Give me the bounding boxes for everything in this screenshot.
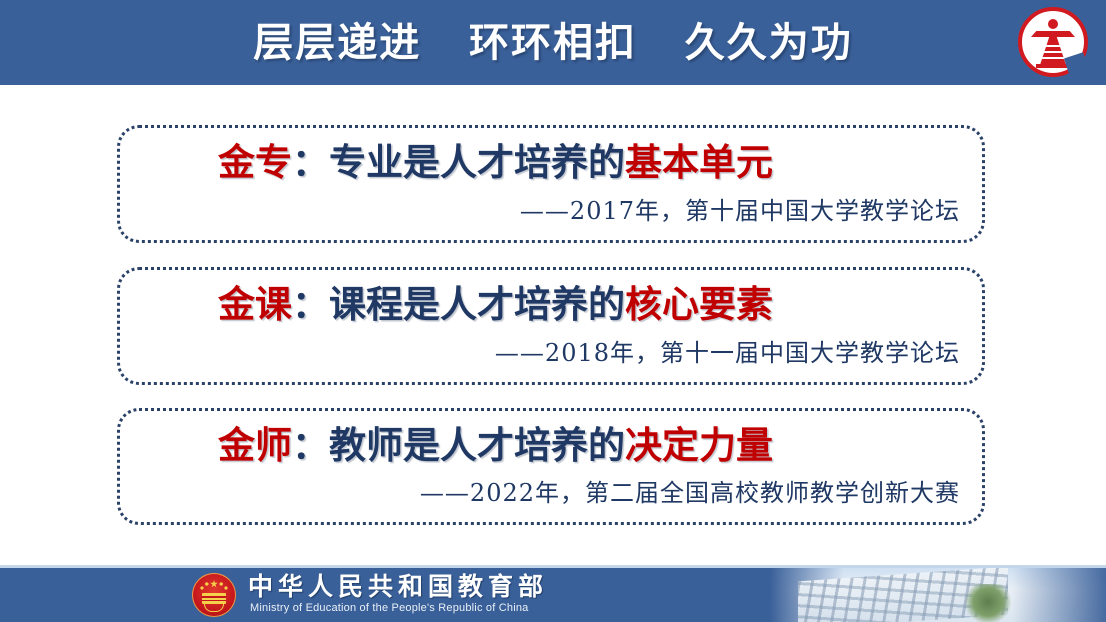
- emblem-rung: [1040, 45, 1066, 47]
- statement-emphasis: 核心要素: [625, 283, 773, 326]
- key-term: 金课: [218, 283, 292, 326]
- separator: ：: [292, 424, 329, 467]
- statement-emphasis: 决定力量: [625, 424, 773, 467]
- ministry-building-photo: [770, 568, 1106, 622]
- separator: ：: [292, 283, 329, 326]
- statement-lead: 课程是人才培养的: [329, 283, 625, 326]
- card-attribution: ——2017年，第十届中国大学教学论坛: [520, 191, 960, 226]
- key-term: 金专: [218, 141, 292, 184]
- emblem-tiananmen: [202, 593, 226, 604]
- national-emblem-icon: [192, 573, 236, 617]
- separator: ：: [292, 141, 329, 184]
- emblem-rung: [1040, 57, 1066, 59]
- emblem-small-stars: [199, 582, 229, 592]
- statement-lead: 教师是人才培养的: [329, 424, 625, 467]
- slide-footer: [0, 568, 1106, 622]
- ministry-name-en: Ministry of Education of the People's Re…: [250, 603, 528, 614]
- card-attribution: ——2022年，第二届全国高校教师教学创新大赛: [420, 473, 960, 508]
- statement-card: 金师：教师是人才培养的决定力量 ——2022年，第二届全国高校教师教学创新大赛: [117, 408, 985, 525]
- statement-card: 金专：专业是人才培养的基本单元 ——2017年，第十届中国大学教学论坛: [117, 125, 985, 243]
- card-headline: 金专：专业是人才培养的基本单元: [218, 142, 773, 185]
- emblem-head: [1048, 19, 1058, 29]
- key-term: 金师: [218, 424, 292, 467]
- card-headline: 金师：教师是人才培养的决定力量: [218, 425, 773, 468]
- card-attribution: ——2018年，第十一届中国大学教学论坛: [495, 333, 960, 368]
- statement-emphasis: 基本单元: [625, 141, 773, 184]
- page-title: 层层递进 环环相扣 久久为功: [253, 23, 853, 63]
- statement-card: 金课：课程是人才培养的核心要素 ——2018年，第十一届中国大学教学论坛: [117, 267, 985, 385]
- statement-lead: 专业是人才培养的: [329, 141, 625, 184]
- tree: [965, 584, 1011, 622]
- institution-emblem-icon: [1018, 7, 1088, 77]
- ministry-name-cn: 中华人民共和国教育部: [248, 574, 548, 599]
- card-headline: 金课：课程是人才培养的核心要素: [218, 284, 773, 327]
- slide-body: 金专：专业是人才培养的基本单元 ——2017年，第十届中国大学教学论坛 金课：课…: [0, 85, 1106, 568]
- emblem-rung: [1040, 51, 1066, 53]
- slide-header: 层层递进 环环相扣 久久为功: [0, 0, 1106, 85]
- emblem-base: [1036, 64, 1070, 68]
